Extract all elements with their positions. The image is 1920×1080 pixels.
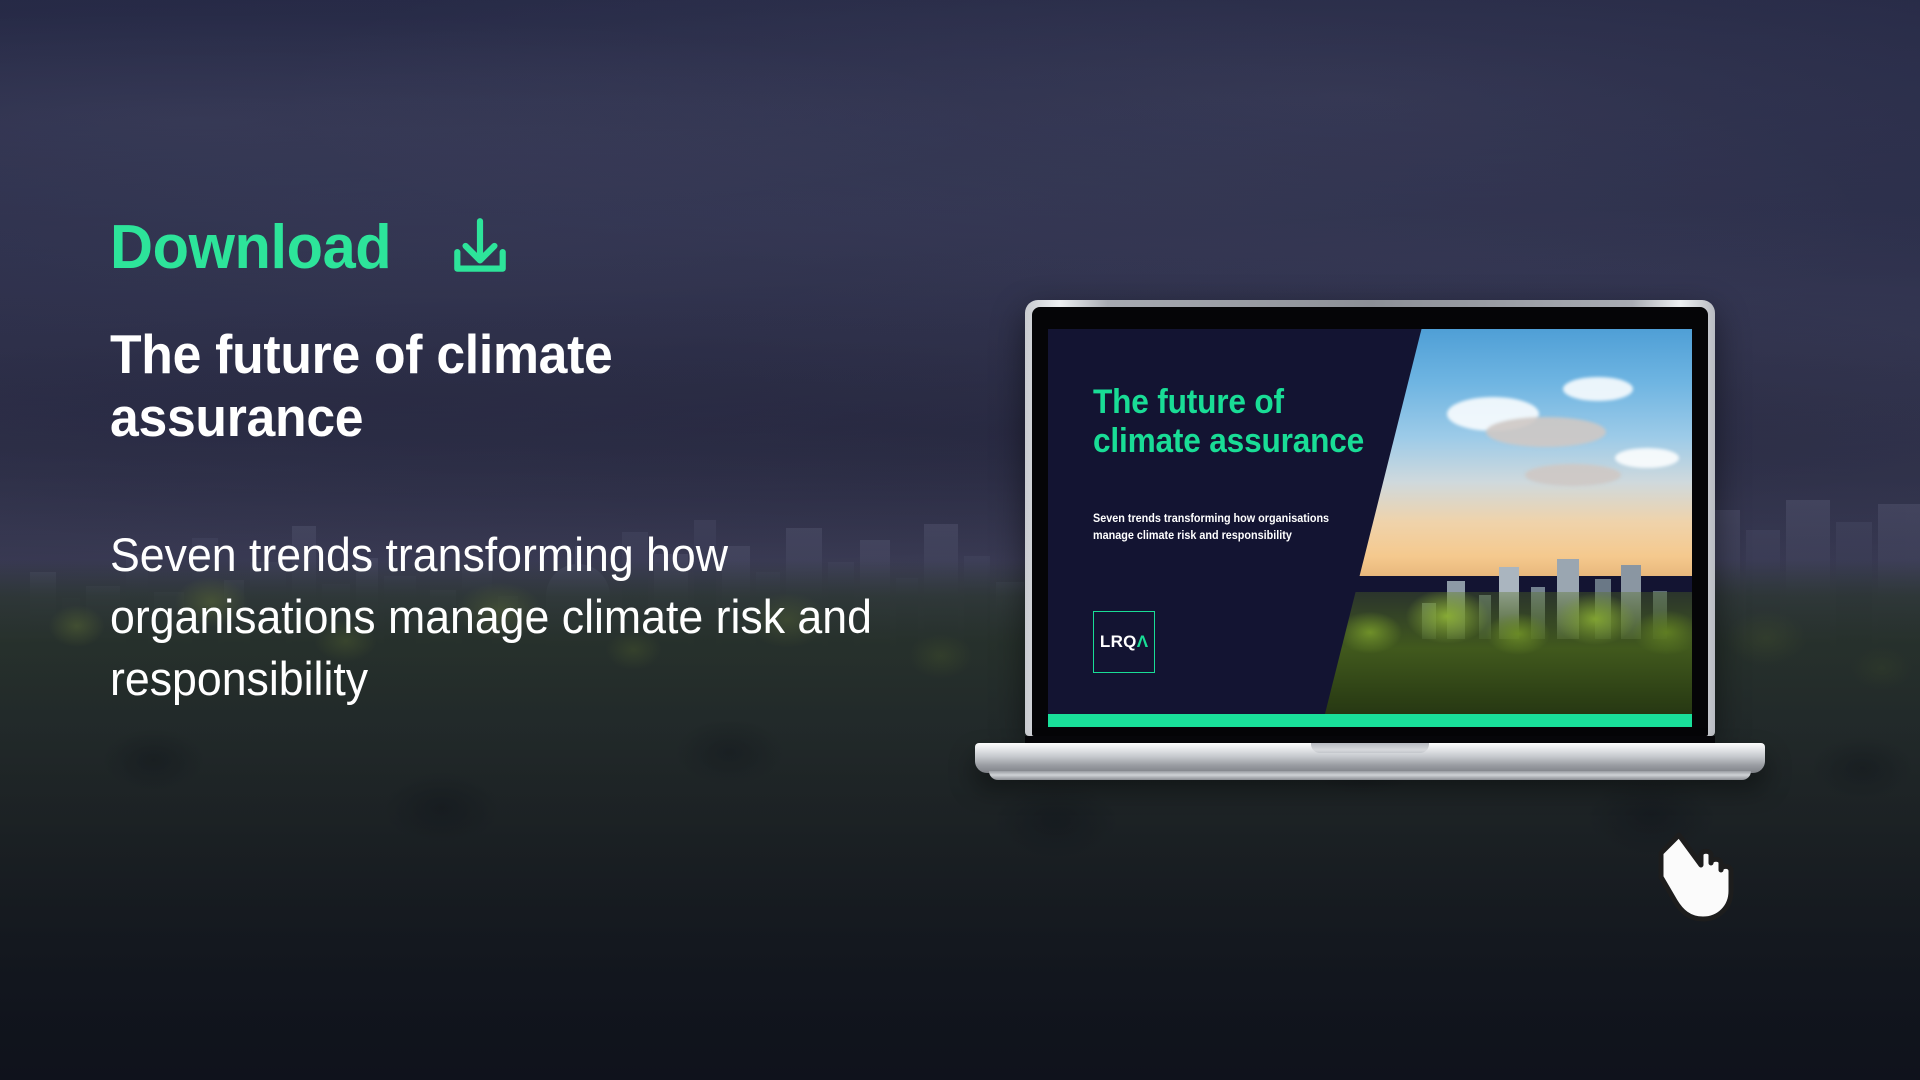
slide-accent-bar bbox=[1048, 714, 1692, 727]
slide-subtitle: Seven trends transforming how organisati… bbox=[1093, 511, 1329, 544]
laptop-screen[interactable]: The future of climate assurance Seven tr… bbox=[1048, 329, 1692, 727]
laptop-mockup: The future of climate assurance Seven tr… bbox=[975, 300, 1765, 773]
pointing-hand-cursor-icon[interactable] bbox=[1655, 825, 1741, 923]
lrqa-logo-text: LRQ bbox=[1100, 632, 1137, 652]
promo-copy: Download The future of climate assurance… bbox=[110, 215, 990, 710]
page-subtitle: Seven trends transforming how organisati… bbox=[110, 524, 946, 710]
download-arrow-icon[interactable] bbox=[447, 215, 513, 281]
laptop-base bbox=[975, 743, 1765, 773]
laptop-lid: The future of climate assurance Seven tr… bbox=[1025, 300, 1715, 736]
laptop-bezel: The future of climate assurance Seven tr… bbox=[1032, 307, 1708, 736]
promo-banner: Download The future of climate assurance… bbox=[0, 0, 1920, 1080]
download-label: Download bbox=[110, 217, 391, 279]
page-title: The future of climate assurance bbox=[110, 323, 712, 448]
slide-subtitle-line-2: manage climate risk and responsibility bbox=[1093, 528, 1329, 545]
slide-subtitle-line-1: Seven trends transforming how organisati… bbox=[1093, 511, 1329, 528]
download-cta[interactable]: Download bbox=[110, 215, 990, 281]
slide-title: The future of climate assurance bbox=[1093, 383, 1364, 462]
slide-title-line-1: The future of bbox=[1093, 383, 1364, 422]
laptop-base-foot bbox=[989, 771, 1751, 780]
laptop-base-wrap bbox=[975, 736, 1765, 773]
slide-title-line-2: climate assurance bbox=[1093, 422, 1364, 461]
lrqa-logo: LRQΛ bbox=[1093, 611, 1155, 673]
laptop-hinge bbox=[1025, 736, 1715, 743]
lrqa-logo-accent: Λ bbox=[1137, 632, 1148, 652]
